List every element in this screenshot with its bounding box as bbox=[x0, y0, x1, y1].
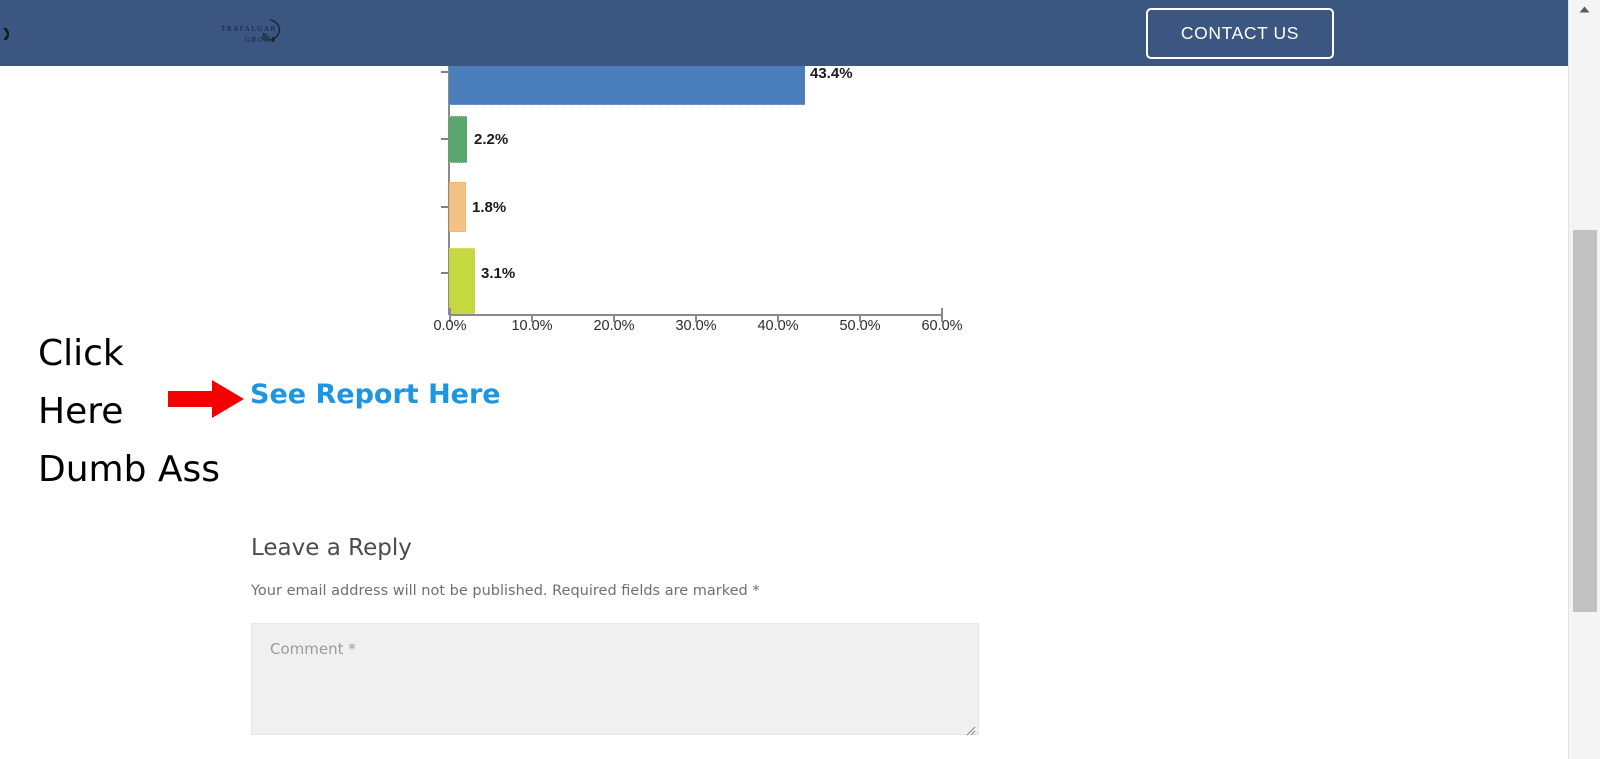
chart-x-tick-label: 40.0% bbox=[738, 318, 818, 334]
annotation-line-3: Dumb Ass bbox=[38, 441, 298, 499]
chart-bar-undecided bbox=[449, 248, 475, 315]
trafalgar-group-logo[interactable]: TRAFALGAR GROUP bbox=[215, 14, 325, 52]
browser-scrollbar[interactable] bbox=[1568, 0, 1600, 759]
chart-y-tick bbox=[441, 71, 448, 73]
chart-x-tick-label: 60.0% bbox=[902, 318, 982, 334]
chart-bar-jo-jorgensen bbox=[449, 182, 466, 232]
scroll-up-arrow-icon[interactable] bbox=[1569, 0, 1600, 18]
svg-text:TRAFALGAR: TRAFALGAR bbox=[221, 25, 277, 33]
chart-x-tick-label: 10.0% bbox=[492, 318, 572, 334]
page-viewport: Joe Biden 43.4% Another Party Candidate … bbox=[0, 0, 1568, 759]
chart-x-tick-label: 50.0% bbox=[820, 318, 900, 334]
site-header: ❯ TRAFALGAR GROUP CONTACT US bbox=[0, 0, 1568, 66]
chart-x-tick-label: 30.0% bbox=[656, 318, 736, 334]
red-right-arrow-icon bbox=[168, 379, 244, 419]
chart-x-tick-label: 20.0% bbox=[574, 318, 654, 334]
browser-page: Joe Biden 43.4% Another Party Candidate … bbox=[0, 0, 1600, 759]
chart-bar-value: 2.2% bbox=[474, 131, 508, 148]
chart-bar-joe-biden bbox=[449, 66, 805, 105]
comment-input[interactable] bbox=[251, 623, 979, 735]
chart-y-tick bbox=[441, 138, 448, 140]
nav-edge-chevron-icon[interactable]: ❯ bbox=[0, 28, 9, 40]
chart-x-tick-label: 0.0% bbox=[410, 318, 490, 334]
chart-bar-value: 1.8% bbox=[472, 199, 506, 216]
chart-bar-value: 43.4% bbox=[810, 65, 853, 82]
chart-bar-another-party-candidate bbox=[449, 116, 467, 163]
resize-grip-icon[interactable] bbox=[964, 723, 976, 735]
see-report-here-link[interactable]: See Report Here bbox=[250, 379, 501, 410]
chart-y-tick bbox=[441, 206, 448, 208]
leave-a-reply-title: Leave a Reply bbox=[251, 535, 981, 561]
contact-us-button[interactable]: CONTACT US bbox=[1146, 8, 1334, 59]
chart-x-axis-start-cap bbox=[449, 308, 451, 315]
scrollbar-thumb[interactable] bbox=[1573, 230, 1597, 612]
chart-bar-value: 3.1% bbox=[481, 265, 515, 282]
comment-form: Leave a Reply Your email address will no… bbox=[251, 535, 981, 740]
annotation-line-1: Click bbox=[38, 325, 298, 383]
required-fields-note: Your email address will not be published… bbox=[251, 583, 981, 599]
chart-y-tick bbox=[441, 272, 448, 274]
chart-x-axis-end-cap bbox=[941, 308, 943, 315]
